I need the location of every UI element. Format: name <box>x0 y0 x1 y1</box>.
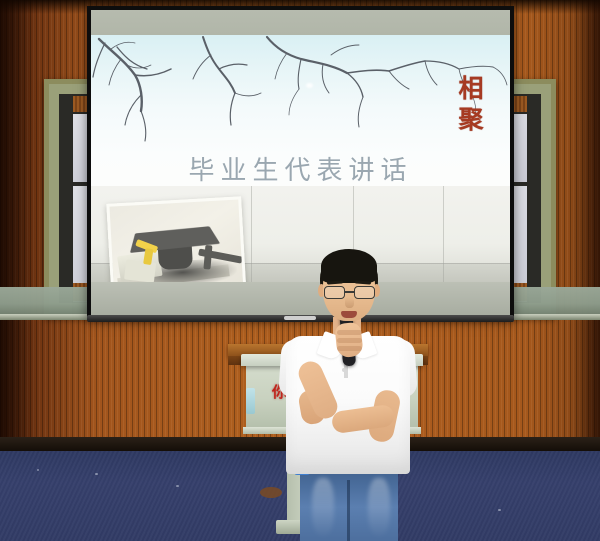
glasses-lens-right <box>354 286 375 299</box>
speaker-mouth <box>341 311 357 318</box>
floor-speck <box>176 485 179 487</box>
glasses-bridge <box>345 291 354 293</box>
finger <box>337 330 362 335</box>
calligraphy-seal: 相 聚 <box>450 73 492 135</box>
projection-screen-surface: 毕业生代表讲话 相 聚 <box>91 10 510 315</box>
wall-shadow-left <box>0 0 36 466</box>
floor-speck <box>95 473 98 475</box>
calligraphy-char-1: 相 <box>450 73 492 104</box>
polo-button <box>342 368 346 372</box>
jeans-fade <box>368 478 390 536</box>
finger <box>337 338 362 343</box>
glasses-lens-left <box>324 286 345 299</box>
slide-wall-seam <box>251 186 252 282</box>
screen-blank-bottom <box>91 282 510 315</box>
water-bottle <box>246 388 255 414</box>
jeans-fade <box>312 478 334 536</box>
jeans-seam <box>347 480 350 541</box>
screen-blank-top <box>91 10 510 35</box>
floor-speck <box>37 469 39 471</box>
floor-speck <box>498 509 501 511</box>
photo-scene: 毕业生代表讲话 相 聚 你 <box>0 0 600 541</box>
wall-shadow-right <box>570 0 600 466</box>
finger <box>337 346 362 351</box>
speaker-hair <box>321 249 377 283</box>
floor-object <box>260 487 282 498</box>
slide-wall-seam <box>443 186 444 282</box>
screen-pull-handle[interactable] <box>284 316 316 320</box>
projection-screen-frame: 毕业生代表讲话 相 聚 <box>87 6 514 319</box>
presentation-slide: 毕业生代表讲话 相 聚 <box>91 35 510 282</box>
calligraphy-char-2: 聚 <box>450 104 492 135</box>
tree-branch-illustration <box>91 35 510 165</box>
graduation-cap-photo <box>106 196 246 282</box>
slide-main-title: 毕业生代表讲话 <box>91 150 510 187</box>
speaker-nose <box>345 297 354 308</box>
